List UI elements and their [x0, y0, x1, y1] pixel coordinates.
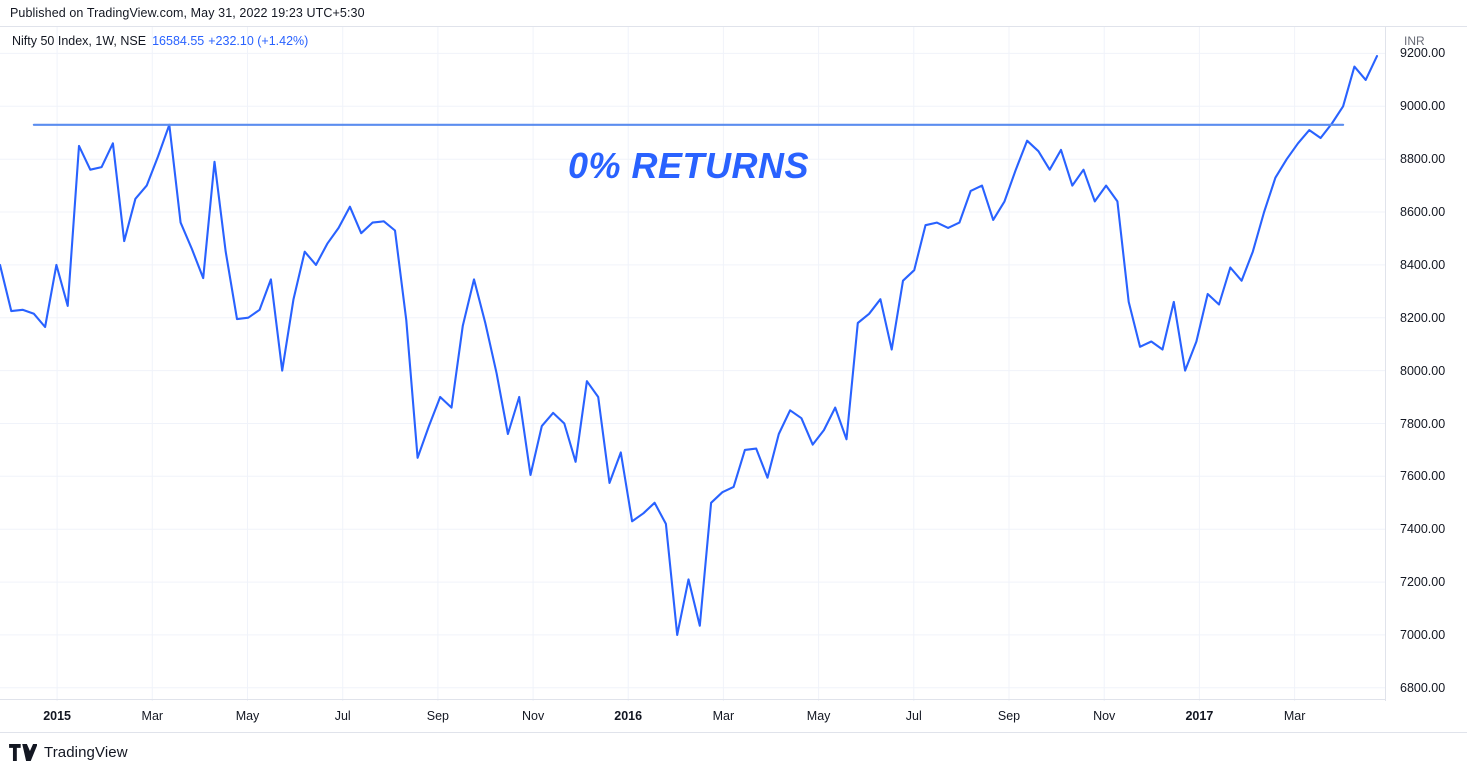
- time-tick-label: Mar: [1284, 709, 1306, 723]
- time-tick-label: 2015: [43, 709, 71, 723]
- legend-last-price: 16584.55: [152, 34, 204, 48]
- price-tick-label: 9200.00: [1400, 46, 1445, 60]
- tradingview-logo-icon: [9, 744, 37, 761]
- time-tick-label: Sep: [427, 709, 449, 723]
- footer: TradingView: [0, 733, 1467, 771]
- time-tick-label: Mar: [142, 709, 164, 723]
- time-tick-label: 2016: [614, 709, 642, 723]
- price-tick-label: 7000.00: [1400, 628, 1445, 642]
- price-tick-label: 7800.00: [1400, 417, 1445, 431]
- price-scale[interactable]: INR 9200.009000.008800.008600.008400.008…: [1385, 27, 1467, 701]
- price-tick-label: 8000.00: [1400, 364, 1445, 378]
- price-tick-label: 8200.00: [1400, 311, 1445, 325]
- time-tick-label: May: [236, 709, 260, 723]
- price-tick-label: 7200.00: [1400, 575, 1445, 589]
- time-tick-label: 2017: [1185, 709, 1213, 723]
- price-tick-label: 7400.00: [1400, 522, 1445, 536]
- zero-returns-annotation[interactable]: 0% RETURNS: [568, 145, 809, 187]
- published-banner: Published on TradingView.com, May 31, 20…: [0, 0, 1467, 26]
- time-tick-label: Nov: [1093, 709, 1115, 723]
- chart-container[interactable]: Nifty 50 Index, 1W, NSE16584.55+232.10 (…: [0, 26, 1467, 733]
- legend-change: +232.10 (+1.42%): [208, 34, 308, 48]
- tradingview-brand-label: TradingView: [44, 744, 128, 761]
- price-tick-label: 8400.00: [1400, 258, 1445, 272]
- time-tick-label: Jul: [335, 709, 351, 723]
- time-tick-label: Mar: [713, 709, 735, 723]
- time-tick-label: Nov: [522, 709, 544, 723]
- price-tick-label: 8600.00: [1400, 205, 1445, 219]
- time-tick-label: Sep: [998, 709, 1020, 723]
- price-line: [0, 56, 1377, 635]
- plot-area[interactable]: [0, 27, 1385, 701]
- price-tick-label: 9000.00: [1400, 99, 1445, 113]
- price-series-plot: [0, 27, 1385, 701]
- legend-symbol: Nifty 50 Index, 1W, NSE: [12, 34, 146, 48]
- price-tick-label: 7600.00: [1400, 469, 1445, 483]
- time-tick-label: Jul: [906, 709, 922, 723]
- time-tick-label: May: [807, 709, 831, 723]
- price-tick-label: 8800.00: [1400, 152, 1445, 166]
- time-scale[interactable]: 2015MarMayJulSepNov2016MarMayJulSepNov20…: [0, 699, 1385, 732]
- price-tick-label: 6800.00: [1400, 681, 1445, 695]
- chart-legend[interactable]: Nifty 50 Index, 1W, NSE16584.55+232.10 (…: [12, 34, 308, 48]
